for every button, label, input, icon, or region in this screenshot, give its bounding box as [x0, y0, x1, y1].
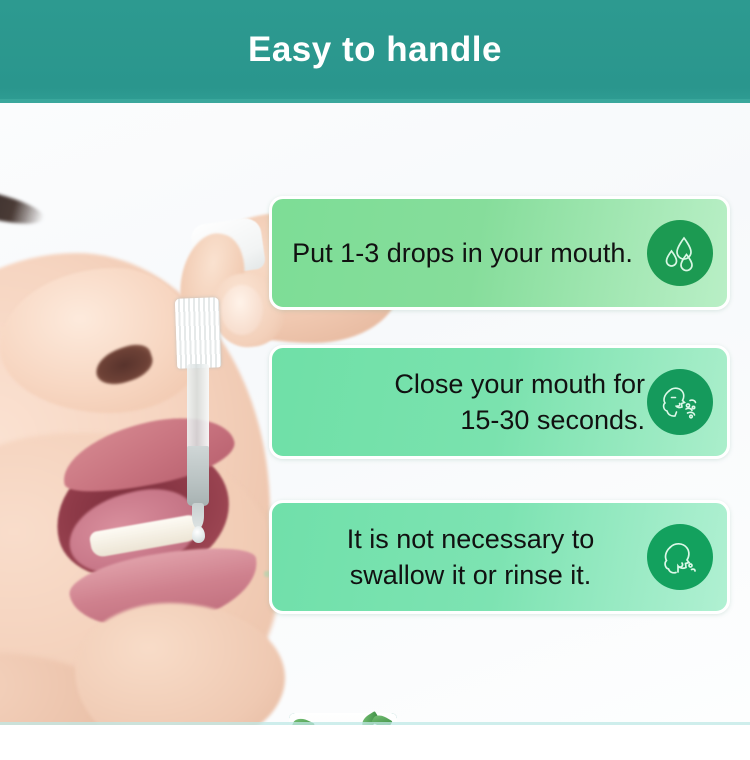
face-eyebrow [0, 179, 47, 233]
water-drops-icon [647, 220, 713, 286]
poster: Easy to handle [0, 0, 750, 760]
liquid-drop [192, 526, 205, 543]
photo-bottom-rule [0, 722, 750, 725]
step-1-text: Put 1-3 drops in your mouth. [272, 235, 647, 271]
hand-fingernail [221, 285, 263, 335]
face-profile-breath-icon [647, 369, 713, 435]
dropper-pipette [176, 298, 222, 543]
dropper-ridged-cap [175, 297, 221, 368]
step-card-2[interactable]: Close your mouth for 15-30 seconds. [269, 345, 730, 459]
page-title: Easy to handle [0, 0, 750, 103]
header-band: Easy to handle [0, 0, 750, 103]
step-3-text: It is not necessary to swallow it or rin… [272, 521, 647, 593]
dropper-liquid [187, 446, 209, 506]
step-card-1[interactable]: Put 1-3 drops in your mouth. [269, 196, 730, 310]
step-card-3[interactable]: It is not necessary to swallow it or rin… [269, 500, 730, 614]
step-2-text: Close your mouth for 15-30 seconds. [272, 366, 647, 438]
head-profile-throat-icon [647, 524, 713, 590]
